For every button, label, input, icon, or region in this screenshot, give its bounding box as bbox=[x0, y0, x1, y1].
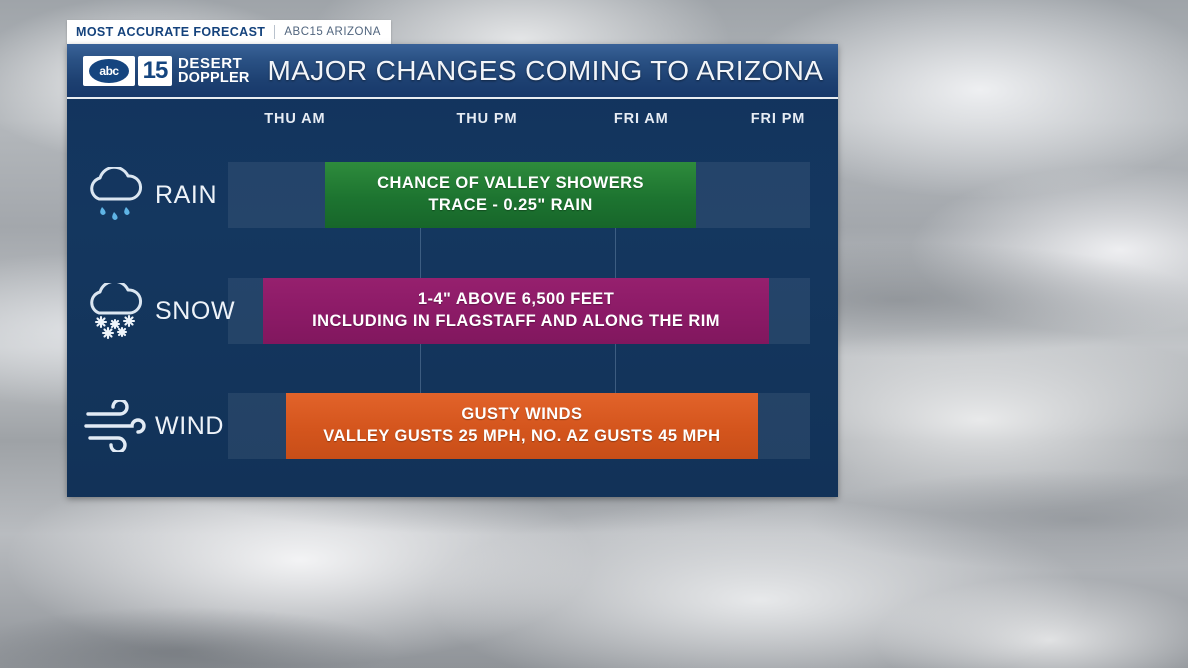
forecast-bar-snow: 1-4" ABOVE 6,500 FEET INCLUDING IN FLAGS… bbox=[263, 278, 769, 344]
wind-bar-line2: VALLEY GUSTS 25 MPH, NO. AZ GUSTS 45 MPH bbox=[323, 426, 720, 448]
branding-eyebrow: MOST ACCURATE FORECAST ABC15 ARIZONA bbox=[67, 20, 391, 44]
row-label-wind: WIND bbox=[155, 412, 224, 441]
wind-bar-line1: GUSTY WINDS bbox=[461, 404, 582, 426]
forecast-panel: abc 15 DESERT DOPPLER MAJOR CHANGES COMI… bbox=[67, 44, 838, 497]
snow-cloud-icon bbox=[77, 278, 153, 344]
rain-bar-line1: CHANCE OF VALLEY SHOWERS bbox=[377, 173, 644, 195]
row-label-rain: RAIN bbox=[155, 181, 217, 210]
desert-doppler-wordmark: DESERT DOPPLER bbox=[178, 56, 250, 86]
snow-bar-line1: 1-4" ABOVE 6,500 FEET bbox=[418, 289, 614, 311]
rain-bar-line2: TRACE - 0.25" RAIN bbox=[428, 195, 592, 217]
eyebrow-station: ABC15 ARIZONA bbox=[284, 26, 381, 38]
row-label-snow: SNOW bbox=[155, 297, 235, 326]
weather-graphic-stage: MOST ACCURATE FORECAST ABC15 ARIZONA abc… bbox=[0, 0, 1188, 668]
timeline-header: THU AM THU PM FRI AM FRI PM bbox=[67, 99, 838, 144]
eyebrow-headline: MOST ACCURATE FORECAST bbox=[76, 25, 265, 39]
snow-bar-line2: INCLUDING IN FLAGSTAFF AND ALONG THE RIM bbox=[312, 311, 720, 333]
forecast-row-snow: SNOW 1-4" ABOVE 6,500 FEET INCLUDING IN … bbox=[67, 278, 838, 344]
forecast-bar-rain: CHANCE OF VALLEY SHOWERS TRACE - 0.25" R… bbox=[325, 162, 696, 228]
forecast-row-wind: WIND GUSTY WINDS VALLEY GUSTS 25 MPH, NO… bbox=[67, 393, 838, 459]
wind-icon bbox=[77, 393, 153, 459]
abc-wordmark: abc bbox=[89, 59, 129, 83]
forecast-bar-wind: GUSTY WINDS VALLEY GUSTS 25 MPH, NO. AZ … bbox=[286, 393, 757, 459]
timeline-column-thu-pm: THU PM bbox=[456, 111, 517, 127]
logo-word-desert: DESERT bbox=[178, 56, 250, 71]
channel-number: 15 bbox=[138, 56, 172, 86]
timeline-column-fri-pm: FRI PM bbox=[751, 111, 806, 127]
panel-header: abc 15 DESERT DOPPLER MAJOR CHANGES COMI… bbox=[67, 44, 838, 99]
eyebrow-divider bbox=[274, 25, 275, 39]
timeline-column-thu-am: THU AM bbox=[264, 111, 325, 127]
forecast-row-rain: RAIN CHANCE OF VALLEY SHOWERS TRACE - 0.… bbox=[67, 162, 838, 228]
page-title: MAJOR CHANGES COMING TO ARIZONA bbox=[268, 55, 824, 87]
rain-cloud-icon bbox=[77, 162, 153, 228]
abc15-desert-doppler-logo: abc 15 DESERT DOPPLER bbox=[83, 56, 250, 86]
timeline-column-fri-am: FRI AM bbox=[614, 111, 669, 127]
abc-circle-logo-icon: abc bbox=[83, 56, 135, 86]
logo-word-doppler: DOPPLER bbox=[178, 71, 250, 86]
